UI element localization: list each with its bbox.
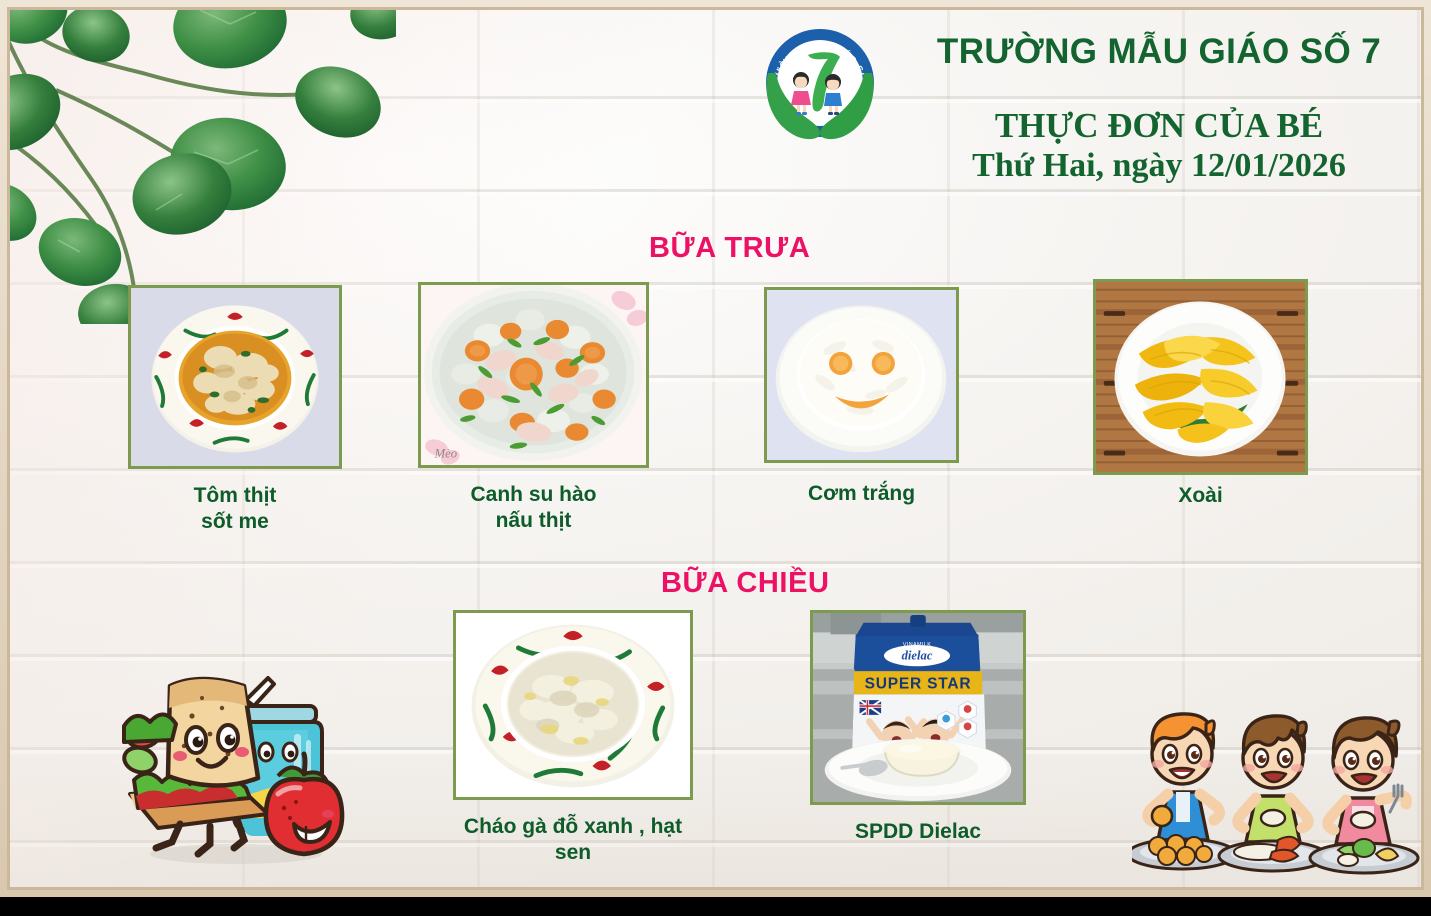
school-logo: TRƯỜNG MẪU GIÁO SỐ 7 xyxy=(758,27,882,144)
logo-boy-icon xyxy=(820,73,846,115)
food-label: Cơm trắng xyxy=(764,481,959,507)
food-card: Xoài xyxy=(1093,279,1308,509)
header: TRƯỜNG MẪU GIÁO SỐ 7 xyxy=(10,10,1421,220)
food-label: SPDD Dielac xyxy=(810,819,1026,845)
food-label: Canh su hào nấu thịt xyxy=(418,482,649,535)
food-photo-shrimp-pork xyxy=(128,285,342,469)
food-photo-kohlrabi-soup: Mèo xyxy=(418,282,649,468)
food-card: Mèo Canh su hào nấu thịt xyxy=(418,282,649,535)
food-photo-porridge xyxy=(453,610,693,800)
logo-girl-icon xyxy=(788,71,814,115)
slide-frame: TRƯỜNG MẪU GIÁO SỐ 7 xyxy=(0,0,1431,897)
slide-frame-inner: TRƯỜNG MẪU GIÁO SỐ 7 xyxy=(7,7,1424,890)
three-children-eating-cartoon-icon xyxy=(1132,688,1424,876)
food-label: Xoài xyxy=(1093,483,1308,509)
menu-title: THỰC ĐƠN CỦA BÉ xyxy=(894,105,1424,146)
svg-text:SUPER STAR: SUPER STAR xyxy=(865,676,972,693)
meal-heading-lunch: BỮA TRƯA xyxy=(649,232,810,265)
school-name: TRƯỜNG MẪU GIÁO SỐ 7 xyxy=(894,32,1424,71)
svg-text:dielac: dielac xyxy=(902,649,933,663)
food-card: Cháo gà đỗ xanh , hạt sen xyxy=(453,610,693,867)
menu-date: Thứ Hai, ngày 12/01/2026 xyxy=(894,146,1424,186)
food-photo-dielac-milk: VINAMILK dielac SUPER STAR xyxy=(810,610,1026,805)
food-card: Tôm thịt sốt me xyxy=(128,285,342,536)
food-card: Cơm trắng xyxy=(764,287,959,507)
food-card: VINAMILK dielac SUPER STAR xyxy=(810,610,1026,845)
sandwich-juice-apple-cartoon-icon xyxy=(118,668,352,872)
food-photo-mango xyxy=(1093,279,1308,475)
title-block: TRƯỜNG MẪU GIÁO SỐ 7 THỰC ĐƠN CỦA BÉ Thứ… xyxy=(894,32,1424,187)
food-label: Cháo gà đỗ xanh , hạt sen xyxy=(453,814,693,867)
food-label: Tôm thịt sốt me xyxy=(128,483,342,536)
meal-heading-afternoon: BỮA CHIỀU xyxy=(661,567,830,600)
slide-stage: TRƯỜNG MẪU GIÁO SỐ 7 xyxy=(0,0,1431,916)
svg-text:Mèo: Mèo xyxy=(434,446,457,460)
food-photo-white-rice xyxy=(764,287,959,463)
bottom-letterbox xyxy=(0,897,1431,916)
